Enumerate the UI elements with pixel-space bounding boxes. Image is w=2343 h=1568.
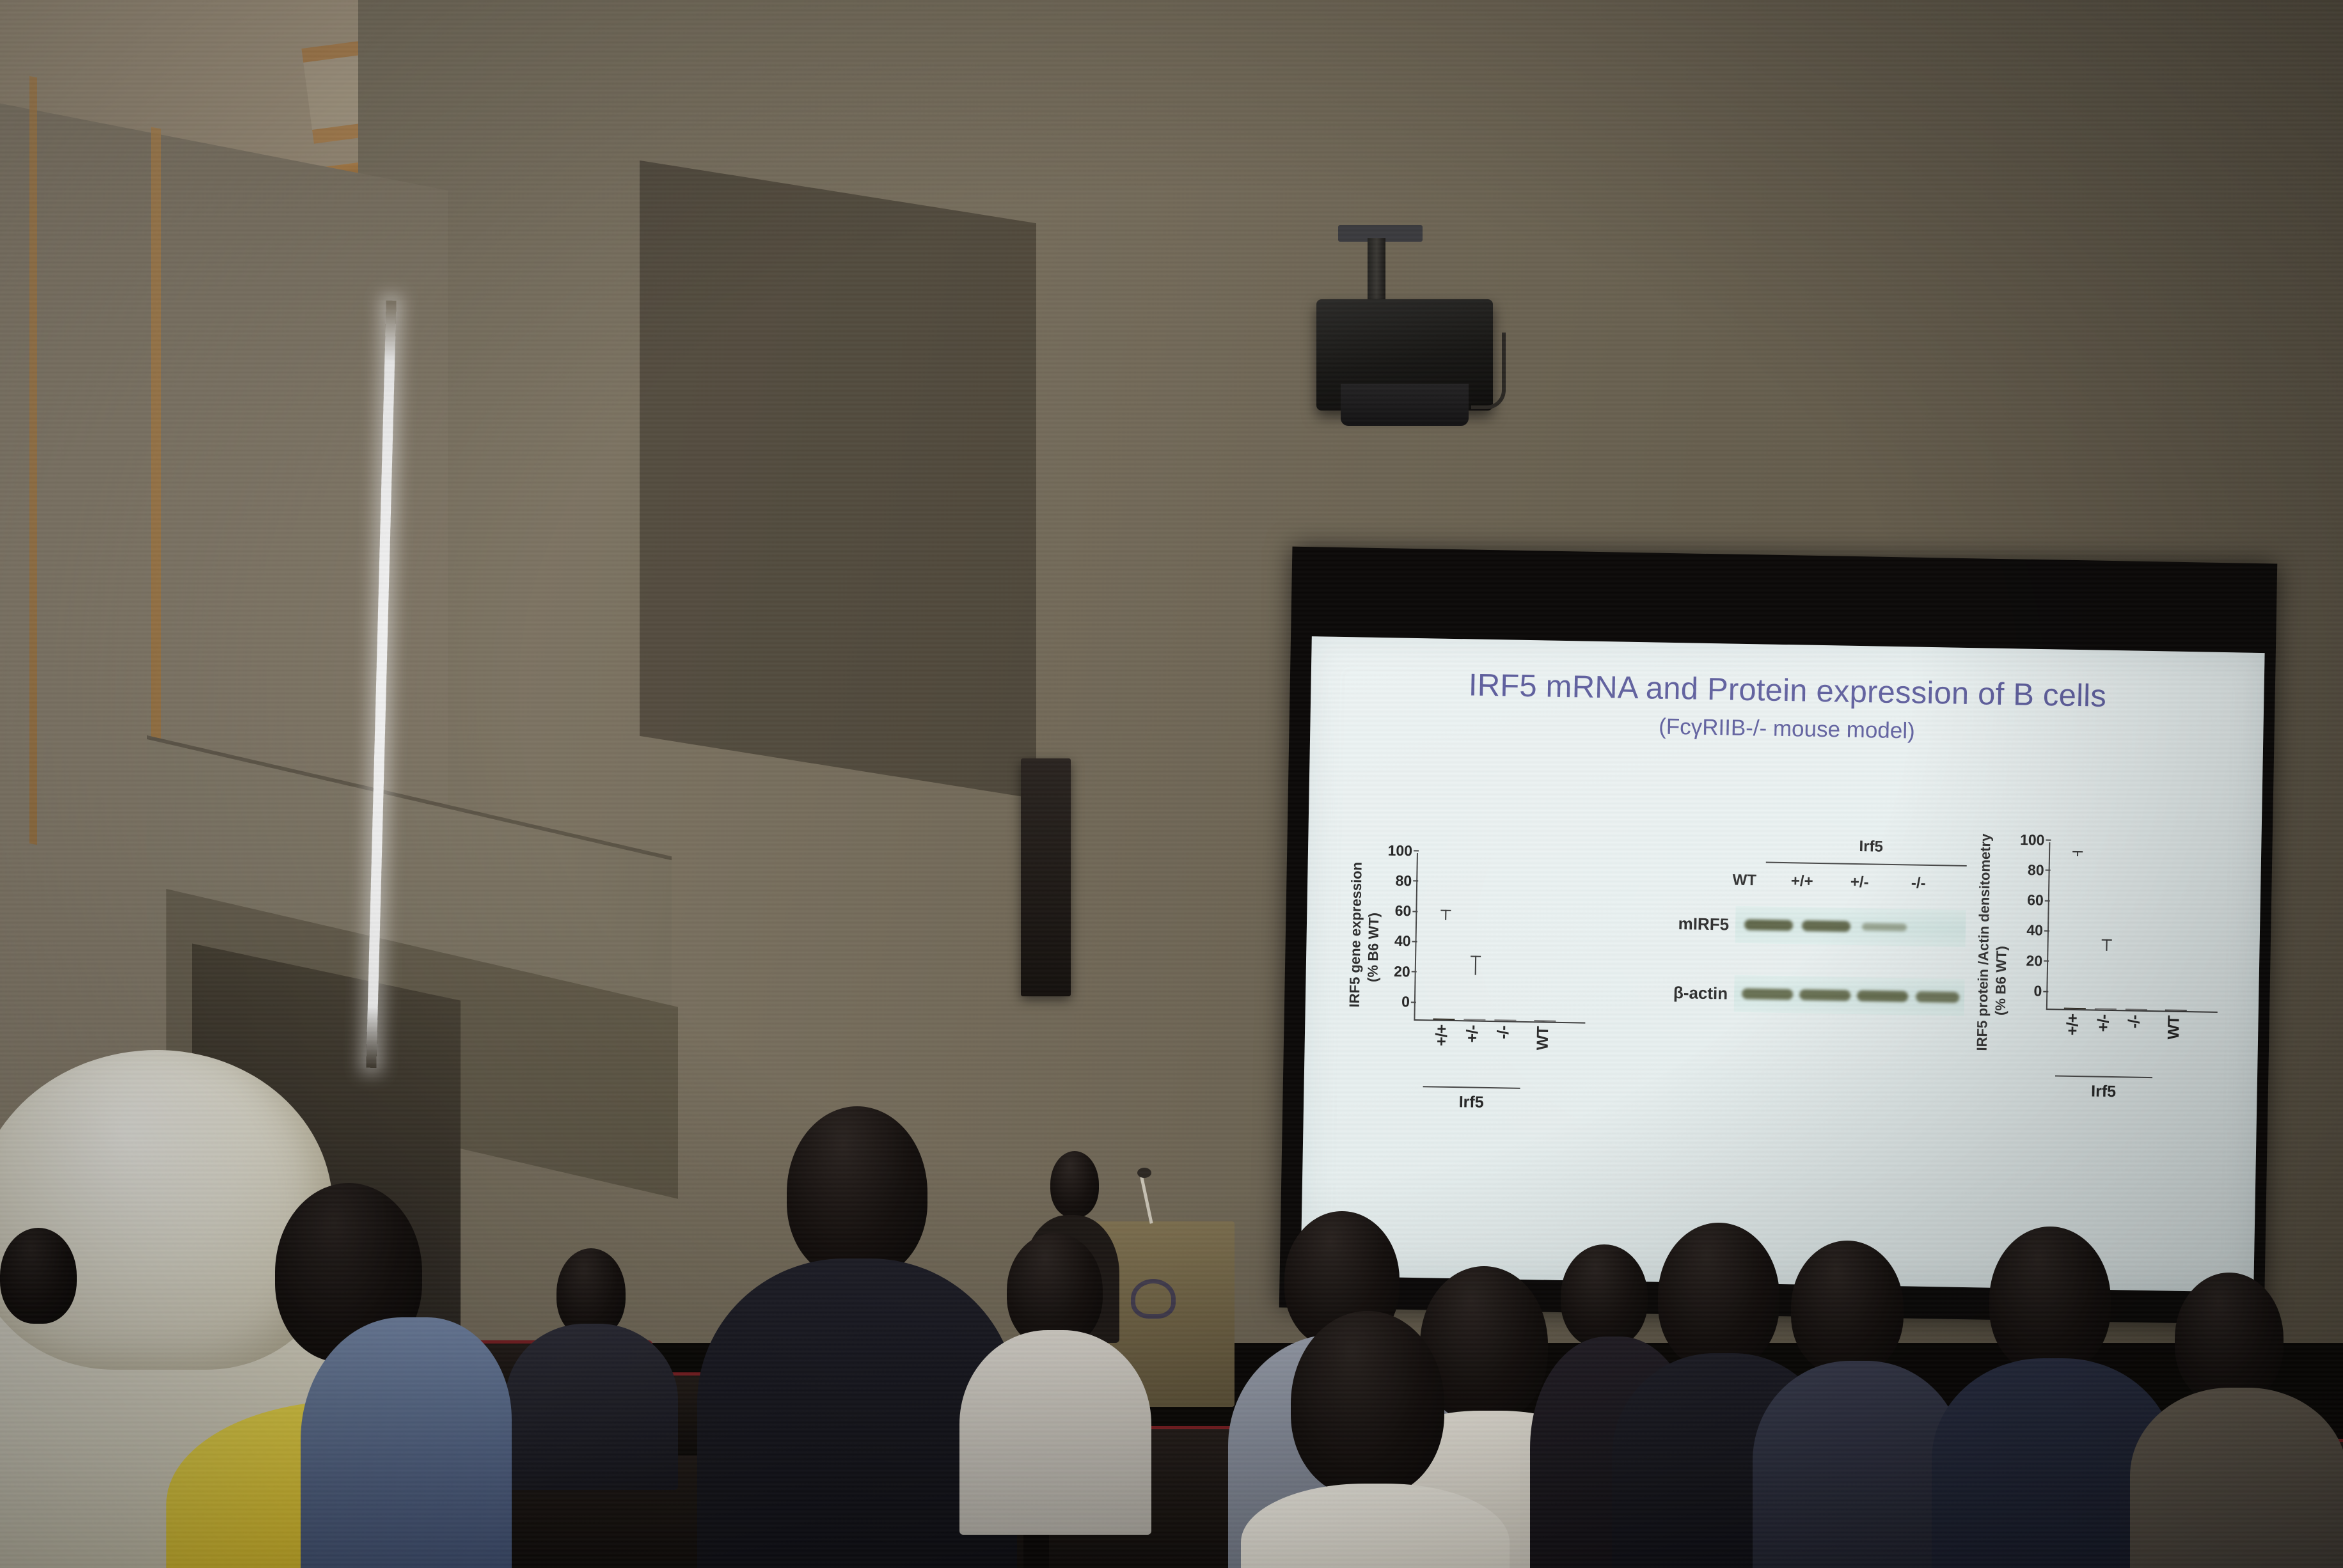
bar-plus-plus: +/+ <box>1433 920 1456 1020</box>
slide-title: IRF5 mRNA and Protein expression of B ce… <box>1311 664 2264 717</box>
blot-band <box>1799 989 1850 1001</box>
group-bracket <box>2055 1075 2152 1078</box>
y-tick: 80 <box>2028 861 2050 879</box>
lectern-emblem-icon <box>1131 1279 1176 1319</box>
audience-head <box>1658 1223 1779 1370</box>
projector-cable <box>1471 333 1506 409</box>
wall-panel <box>640 161 1036 799</box>
audience-body <box>2130 1388 2343 1568</box>
group-label: Irf5 <box>2055 1081 2152 1102</box>
y-tick: 100 <box>2020 831 2051 849</box>
blot-lane-label-minusminus: -/- <box>1896 874 1941 893</box>
y-tick: 100 <box>1387 842 1418 859</box>
plot-area-mrna: 0 20 40 60 80 100 +/+ +/- <box>1414 853 1588 1024</box>
blot-group-header: Irf5 <box>1775 836 1967 858</box>
y-tick: 20 <box>1394 963 1416 981</box>
blot-band <box>1744 919 1793 930</box>
x-tick-label: -/- <box>1494 1026 1516 1039</box>
audience-body <box>959 1330 1151 1535</box>
group-bracket <box>1423 1086 1520 1089</box>
blot-band <box>1916 991 1959 1003</box>
y-tick: 0 <box>2033 982 2047 1000</box>
wall-speaker <box>1021 758 1071 996</box>
blot-lane-label-plusplus: +/+ <box>1779 872 1824 891</box>
y-tick: 40 <box>1394 932 1417 950</box>
x-tick-label: WT <box>2165 1015 2187 1039</box>
lecture-hall-photo: IRF5 mRNA and Protein expression of B ce… <box>0 0 2343 1568</box>
projector-pole <box>1368 238 1385 306</box>
y-axis-label-line2: (% B6 WT) <box>1992 904 2011 1058</box>
audience-head <box>0 1228 77 1324</box>
y-axis-label-line2: (% B6 WT) <box>1364 868 1383 1028</box>
y-tick: 60 <box>2027 891 2049 909</box>
wall-trim <box>29 76 37 845</box>
audience-head <box>1561 1244 1648 1348</box>
bars-protein: +/+ +/- -/- WT <box>2047 842 2220 1012</box>
y-tick: 80 <box>1395 872 1417 890</box>
bar-wt: WT <box>2165 859 2189 1011</box>
x-tick-label: -/- <box>2125 1015 2147 1028</box>
x-tick-label: +/+ <box>1433 1024 1455 1046</box>
bar-wt: WT <box>1534 870 1558 1022</box>
blot-band <box>1802 920 1850 932</box>
x-tick-label: +/- <box>1463 1025 1485 1042</box>
x-tick-label: +/- <box>2094 1015 2116 1032</box>
bars-mrna: +/+ +/- -/- WT <box>1415 853 1588 1023</box>
blue-sweater <box>301 1317 512 1568</box>
audience-head <box>1291 1311 1444 1496</box>
projector-lens-icon <box>1341 384 1469 426</box>
y-axis-label-line1: IRF5 gene expression <box>1346 829 1366 1040</box>
audience-body <box>505 1324 678 1490</box>
audience-head <box>1791 1241 1904 1375</box>
y-tick: 0 <box>1401 993 1416 1010</box>
plot-area-protein: 0 20 40 60 80 100 +/+ +/- <box>2046 842 2221 1013</box>
x-tick-label: +/+ <box>2063 1014 2086 1036</box>
chart-mrna-expression: IRF5 gene expression (% B6 WT) 0 20 40 6… <box>1339 829 1614 1191</box>
presenter-head <box>1050 1151 1099 1218</box>
blot-row-label-mirf5: mIRF5 <box>1633 913 1730 935</box>
blot-band <box>1857 991 1908 1002</box>
audience-head <box>2175 1273 2284 1404</box>
bar-plus-minus: +/- <box>2095 950 2118 1010</box>
western-blot: Irf5 WT +/+ +/- -/- mIRF5 β-actin <box>1637 834 1973 1070</box>
y-tick: 60 <box>1395 902 1417 920</box>
group-label: Irf5 <box>1423 1092 1520 1113</box>
blot-gel-bactin <box>1734 975 1965 1016</box>
bar-minus-minus: -/- <box>1494 1019 1516 1021</box>
audience-head <box>787 1106 927 1279</box>
blot-group-bracket <box>1766 862 1967 866</box>
blot-row-label-bactin: β-actin <box>1632 982 1728 1004</box>
bar-plus-plus: +/+ <box>2064 856 2088 1009</box>
audience-head <box>1989 1227 2111 1374</box>
bar-plus-minus: +/- <box>1463 975 1486 1021</box>
microphone-icon <box>1137 1168 1151 1178</box>
chart-protein-densitometry: IRF5 protein /Actin densitometry (% B6 W… <box>1968 808 2243 1202</box>
bar-minus-minus: -/- <box>2126 1009 2147 1010</box>
blot-band <box>1862 923 1907 931</box>
slide: IRF5 mRNA and Protein expression of B ce… <box>1300 636 2264 1292</box>
wall-trim <box>151 127 161 806</box>
blot-band <box>1742 988 1793 1000</box>
y-tick: 40 <box>2026 922 2049 940</box>
y-tick: 20 <box>2026 952 2048 970</box>
x-tick-label: WT <box>1534 1026 1556 1050</box>
blot-lane-label-plusminus: +/- <box>1837 873 1882 891</box>
projection-screen[interactable]: IRF5 mRNA and Protein expression of B ce… <box>1300 636 2264 1292</box>
blot-gel-mirf5 <box>1735 906 1966 947</box>
blot-lane-label-wt: WT <box>1722 871 1767 890</box>
